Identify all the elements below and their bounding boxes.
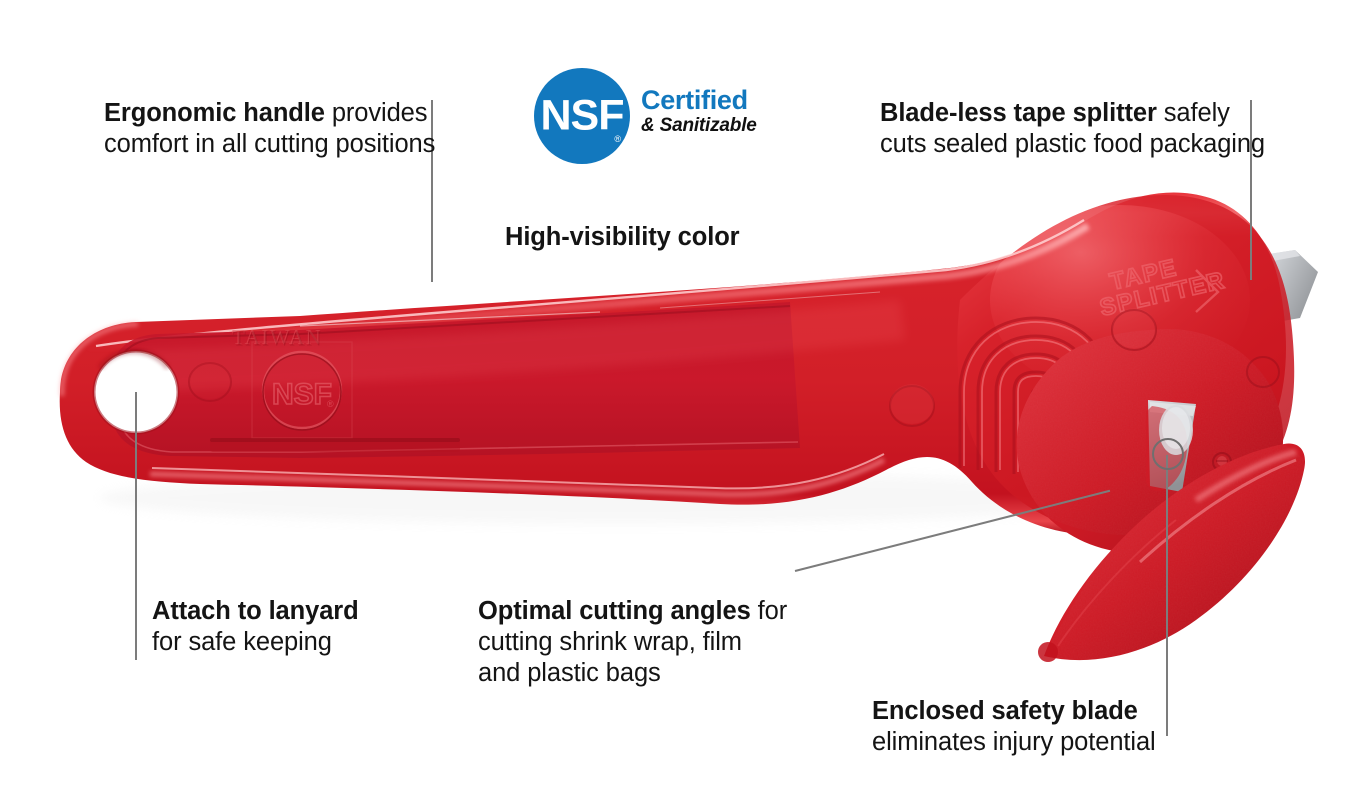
nsf-certified-label: Certified <box>641 86 757 114</box>
callout-rest-text: safely <box>1157 99 1230 127</box>
nsf-sanitizable-label: & Sanitizable <box>641 115 757 137</box>
callout-bold-text: Ergonomic handle <box>104 99 325 127</box>
nsf-logo-circle: NSF ® <box>534 68 630 164</box>
callout-line-3: and plastic bags <box>478 658 787 689</box>
leader-line-attach-to-lanyard <box>135 392 137 660</box>
callout-line-1: Attach to lanyard <box>152 596 359 627</box>
leader-line-enclosed-safety-blade <box>1166 455 1168 736</box>
nsf-logo-text: NSF <box>534 95 630 138</box>
svg-text:TAIWAN: TAIWAN <box>233 327 323 351</box>
callout-bold-text: Blade-less tape splitter <box>880 99 1157 127</box>
callout-high-visibility-color: High-visibility color <box>505 222 740 253</box>
callout-attach-to-lanyard: Attach to lanyard for safe keeping <box>152 596 359 658</box>
leader-circle-enclosed-safety-blade <box>1152 438 1184 470</box>
callout-blade-less-tape-splitter: Blade-less tape splitter safely cuts sea… <box>880 98 1265 160</box>
callout-bold-text: High-visibility color <box>505 223 740 251</box>
callout-line-2: eliminates injury potential <box>872 727 1156 758</box>
callout-bold-text: Optimal cutting angles <box>478 597 751 625</box>
callout-line-2: cuts sealed plastic food packaging <box>880 129 1265 160</box>
callout-rest-text: provides <box>325 99 428 127</box>
callout-line-2: comfort in all cutting positions <box>104 129 435 160</box>
callout-line-2: for safe keeping <box>152 627 359 658</box>
registered-trademark-icon: ® <box>614 135 621 144</box>
callout-bold-text: Enclosed safety blade <box>872 697 1138 725</box>
callout-line-2: cutting shrink wrap, film <box>478 627 787 658</box>
callout-line-1: Blade-less tape splitter safely <box>880 98 1265 129</box>
infographic-canvas: TAIWAN TAIWAN NSF ® <box>0 0 1366 800</box>
callout-optimal-cutting-angles: Optimal cutting angles for cutting shrin… <box>478 596 787 689</box>
callout-line-1: Optimal cutting angles for <box>478 596 787 627</box>
callout-enclosed-safety-blade: Enclosed safety blade eliminates injury … <box>872 696 1156 758</box>
callout-bold-text: Attach to lanyard <box>152 597 359 625</box>
svg-text:®: ® <box>327 399 334 409</box>
callout-line-1: Ergonomic handle provides <box>104 98 435 129</box>
callout-line-1: High-visibility color <box>505 222 740 253</box>
callout-ergonomic-handle: Ergonomic handle provides comfort in all… <box>104 98 435 160</box>
nsf-certified-badge: NSF ® Certified & Sanitizable <box>534 68 784 160</box>
callout-rest-text: for <box>751 597 787 625</box>
callout-line-1: Enclosed safety blade <box>872 696 1156 727</box>
svg-text:NSF: NSF <box>272 378 332 411</box>
nsf-badge-text: Certified & Sanitizable <box>641 86 757 137</box>
